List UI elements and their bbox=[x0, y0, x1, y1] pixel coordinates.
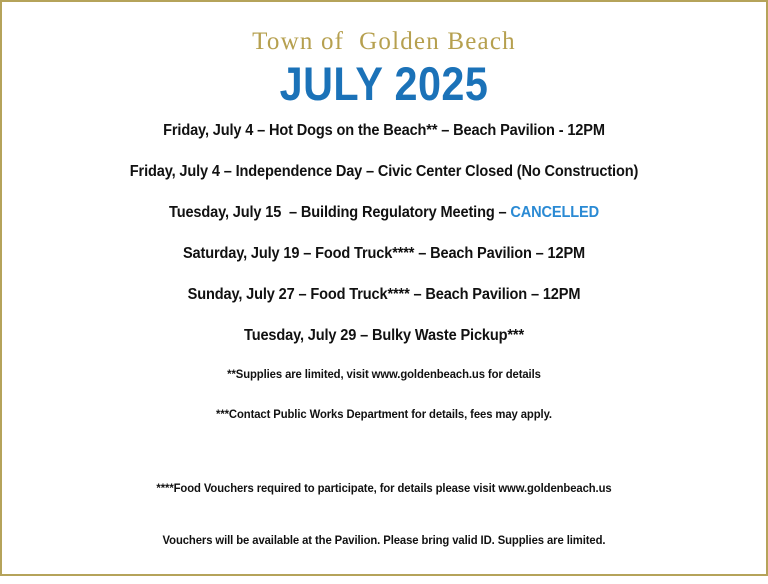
list-item: Friday, July 4 – Independence Day – Civi… bbox=[25, 163, 743, 180]
footnote-supplies: **Supplies are limited, visit www.golden… bbox=[25, 366, 743, 383]
footnote-vouchers: ****Food Vouchers required to participat… bbox=[25, 445, 743, 584]
footnote-vouchers-line-2: Vouchers will be available at the Pavili… bbox=[25, 532, 743, 549]
status-badge: CANCELLED bbox=[510, 204, 599, 221]
list-item: Friday, July 4 – Hot Dogs on the Beach**… bbox=[25, 122, 743, 139]
list-item: Tuesday, July 15 – Building Regulatory M… bbox=[25, 204, 743, 221]
event-flyer: Town of Golden Beach JULY 2025 Friday, J… bbox=[0, 0, 768, 576]
flyer-header: Town of Golden Beach JULY 2025 bbox=[2, 2, 766, 108]
list-item: Sunday, July 27 – Food Truck**** – Beach… bbox=[25, 286, 743, 303]
list-item: Saturday, July 19 – Food Truck**** – Bea… bbox=[25, 245, 743, 262]
page-title: JULY 2025 bbox=[48, 59, 720, 108]
footnotes-section: **Supplies are limited, visit www.golden… bbox=[2, 366, 766, 584]
footnote-vouchers-line-1: ****Food Vouchers required to participat… bbox=[25, 480, 743, 497]
town-name: Town of Golden Beach bbox=[2, 28, 766, 57]
events-list: Friday, July 4 – Hot Dogs on the Beach**… bbox=[2, 122, 766, 344]
event-description: Tuesday, July 15 – Building Regulatory M… bbox=[169, 204, 510, 221]
footnote-public-works: ***Contact Public Works Department for d… bbox=[25, 406, 743, 423]
list-item: Tuesday, July 29 – Bulky Waste Pickup*** bbox=[25, 327, 743, 344]
